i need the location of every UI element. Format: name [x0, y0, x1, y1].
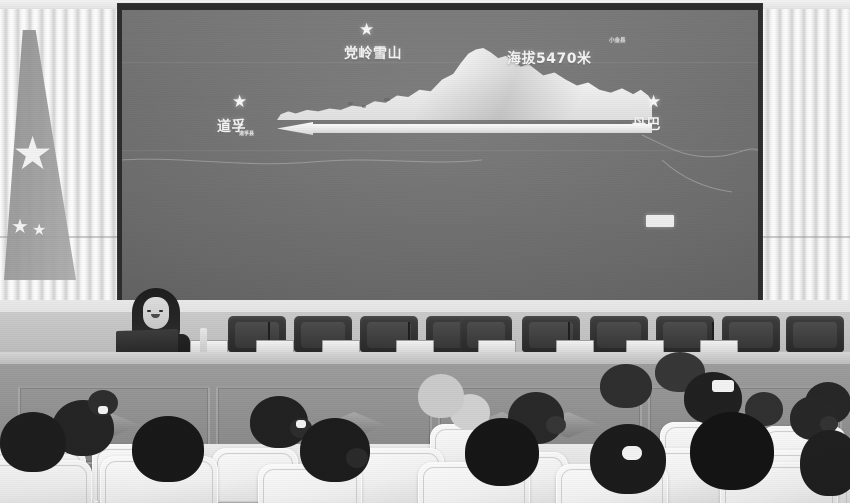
podium-chair [786, 316, 844, 352]
audience-head [690, 412, 774, 490]
audience-hair-bun [346, 448, 368, 468]
audience-head [465, 418, 539, 486]
audience-head [0, 412, 66, 472]
audience-head [800, 430, 850, 496]
audience-head [250, 396, 308, 448]
map-outline [122, 10, 758, 311]
hair-clip [712, 380, 734, 392]
water-bottle [200, 328, 207, 354]
screenshot-root: ★ ★ ★ ★ 党岭雪山 海拔5470米 小金县 [0, 0, 850, 503]
presenter-face [143, 297, 169, 329]
audience-head [132, 416, 204, 482]
audience-area [0, 352, 850, 503]
projection-screen: ★ 党岭雪山 海拔5470米 小金县 ★ 道孚 道孚县 ★ 丹巴 [122, 10, 758, 311]
microphone [268, 322, 270, 340]
hair-clip [98, 406, 108, 414]
flag-big-star-icon: ★ [12, 130, 53, 176]
national-flag: ★ ★ ★ [4, 30, 76, 280]
flag-small-star-icon: ★ [32, 222, 46, 238]
microphone [408, 322, 410, 340]
audience-head [600, 364, 652, 408]
hair-clip [296, 420, 306, 428]
audience-head [300, 418, 370, 482]
microphone [712, 322, 714, 340]
microphone [568, 322, 570, 340]
audience-head [590, 424, 666, 494]
presenter-eye [147, 310, 151, 312]
flag-small-star-icon: ★ [11, 216, 29, 236]
presenter-eye [159, 310, 163, 312]
audience-hair-bun [546, 416, 566, 434]
projection-screen-frame: ★ 党岭雪山 海拔5470米 小金县 ★ 道孚 道孚县 ★ 丹巴 [118, 4, 762, 316]
slide-watermark [646, 215, 674, 227]
audience-head-cap [418, 374, 464, 418]
slide-content: ★ 党岭雪山 海拔5470米 小金县 ★ 道孚 道孚县 ★ 丹巴 [122, 10, 758, 311]
hair-clip [622, 446, 642, 460]
